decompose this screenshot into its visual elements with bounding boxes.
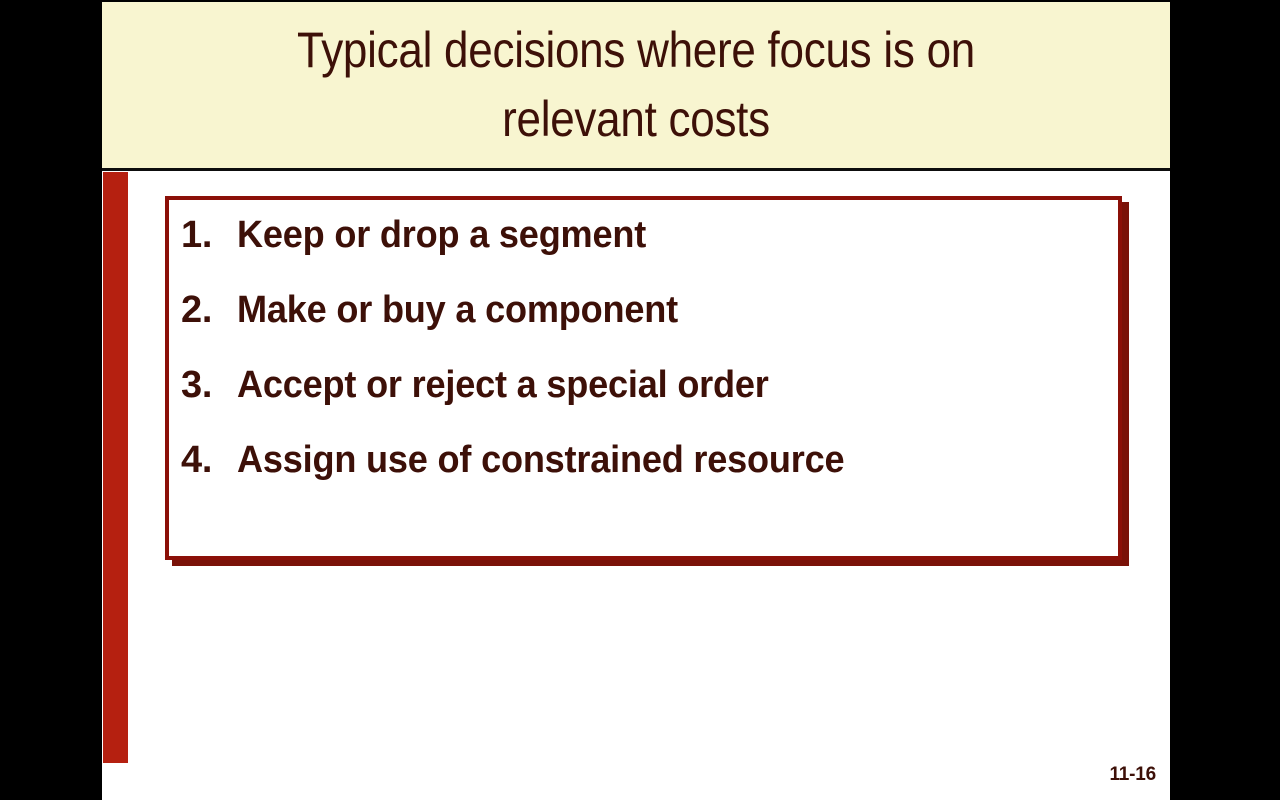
decision-list-box: 1. Keep or drop a segment 2. Make or buy…	[165, 196, 1122, 560]
slide-title-band: Typical decisions where focus is on rele…	[102, 0, 1170, 171]
list-item-label: Accept or reject a special order	[237, 364, 769, 407]
list-item-label: Keep or drop a segment	[237, 214, 646, 257]
list-item: 4. Assign use of constrained resource	[181, 439, 1118, 514]
list-item-label: Make or buy a component	[237, 289, 678, 332]
list-item: 1. Keep or drop a segment	[181, 214, 1118, 289]
presentation-slide: Typical decisions where focus is on rele…	[0, 0, 1280, 800]
list-item-number: 3.	[181, 364, 237, 407]
letterbox-bar-right	[1170, 0, 1280, 800]
list-item-number: 2.	[181, 289, 237, 332]
slide-canvas: Typical decisions where focus is on rele…	[102, 0, 1170, 800]
list-item: 2. Make or buy a component	[181, 289, 1118, 364]
slide-title: Typical decisions where focus is on rele…	[214, 16, 1059, 154]
letterbox-bar-left	[0, 0, 102, 800]
left-accent-bar	[103, 172, 128, 763]
list-item-number: 4.	[181, 439, 237, 482]
list-item-label: Assign use of constrained resource	[237, 439, 844, 482]
page-number: 11-16	[1109, 764, 1156, 786]
list-item-number: 1.	[181, 214, 237, 257]
decision-list: 1. Keep or drop a segment 2. Make or buy…	[181, 214, 1118, 514]
list-item: 3. Accept or reject a special order	[181, 364, 1118, 439]
